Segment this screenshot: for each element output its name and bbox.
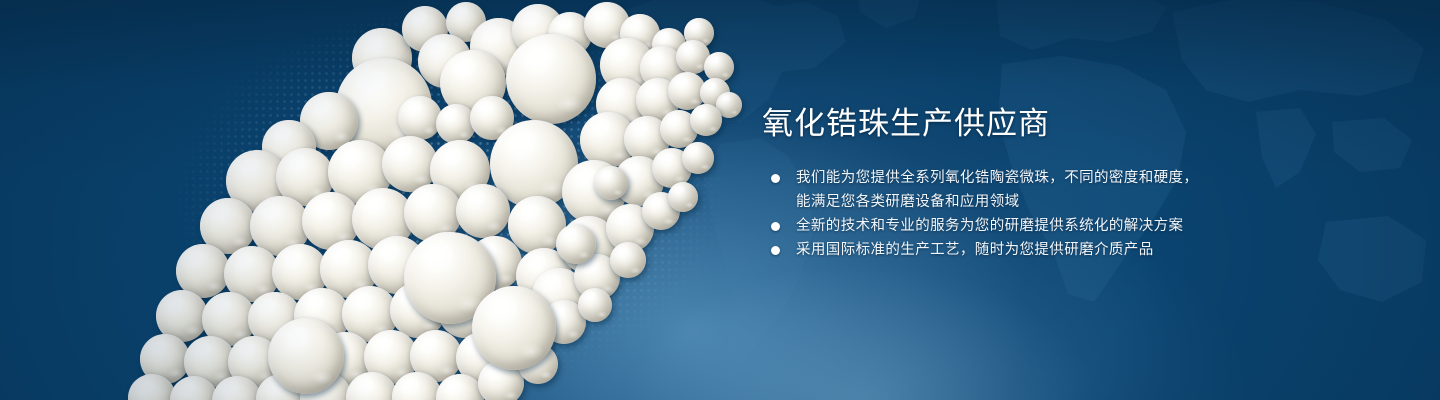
feature-bullet-line: 能满足您各类研磨设备和应用领域 xyxy=(796,190,1362,214)
feature-bullet-list: 我们能为您提供全系列氧化锆陶瓷微珠，不同的密度和硬度，能满足您各类研磨设备和应用… xyxy=(762,166,1362,262)
feature-bullet-item: 全新的技术和专业的服务为您的研磨提供系统化的解决方案 xyxy=(762,214,1362,238)
banner-copy: 氧化锆珠生产供应商 我们能为您提供全系列氧化锆陶瓷微珠，不同的密度和硬度，能满足… xyxy=(762,104,1362,262)
bullet-dot-icon xyxy=(771,174,780,183)
feature-bullet-item: 我们能为您提供全系列氧化锆陶瓷微珠，不同的密度和硬度，能满足您各类研磨设备和应用… xyxy=(762,166,1362,214)
page-title: 氧化锆珠生产供应商 xyxy=(762,104,1362,144)
hero-banner: 氧化锆珠生产供应商 我们能为您提供全系列氧化锆陶瓷微珠，不同的密度和硬度，能满足… xyxy=(0,0,1440,400)
feature-bullet-line: 我们能为您提供全系列氧化锆陶瓷微珠，不同的密度和硬度， xyxy=(796,166,1362,190)
bullet-dot-icon xyxy=(771,246,780,255)
feature-bullet-item: 采用国际标准的生产工艺，随时为您提供研磨介质产品 xyxy=(762,238,1362,262)
feature-bullet-line: 全新的技术和专业的服务为您的研磨提供系统化的解决方案 xyxy=(796,214,1362,238)
bullet-dot-icon xyxy=(771,222,780,231)
feature-bullet-line: 采用国际标准的生产工艺，随时为您提供研磨介质产品 xyxy=(796,238,1362,262)
